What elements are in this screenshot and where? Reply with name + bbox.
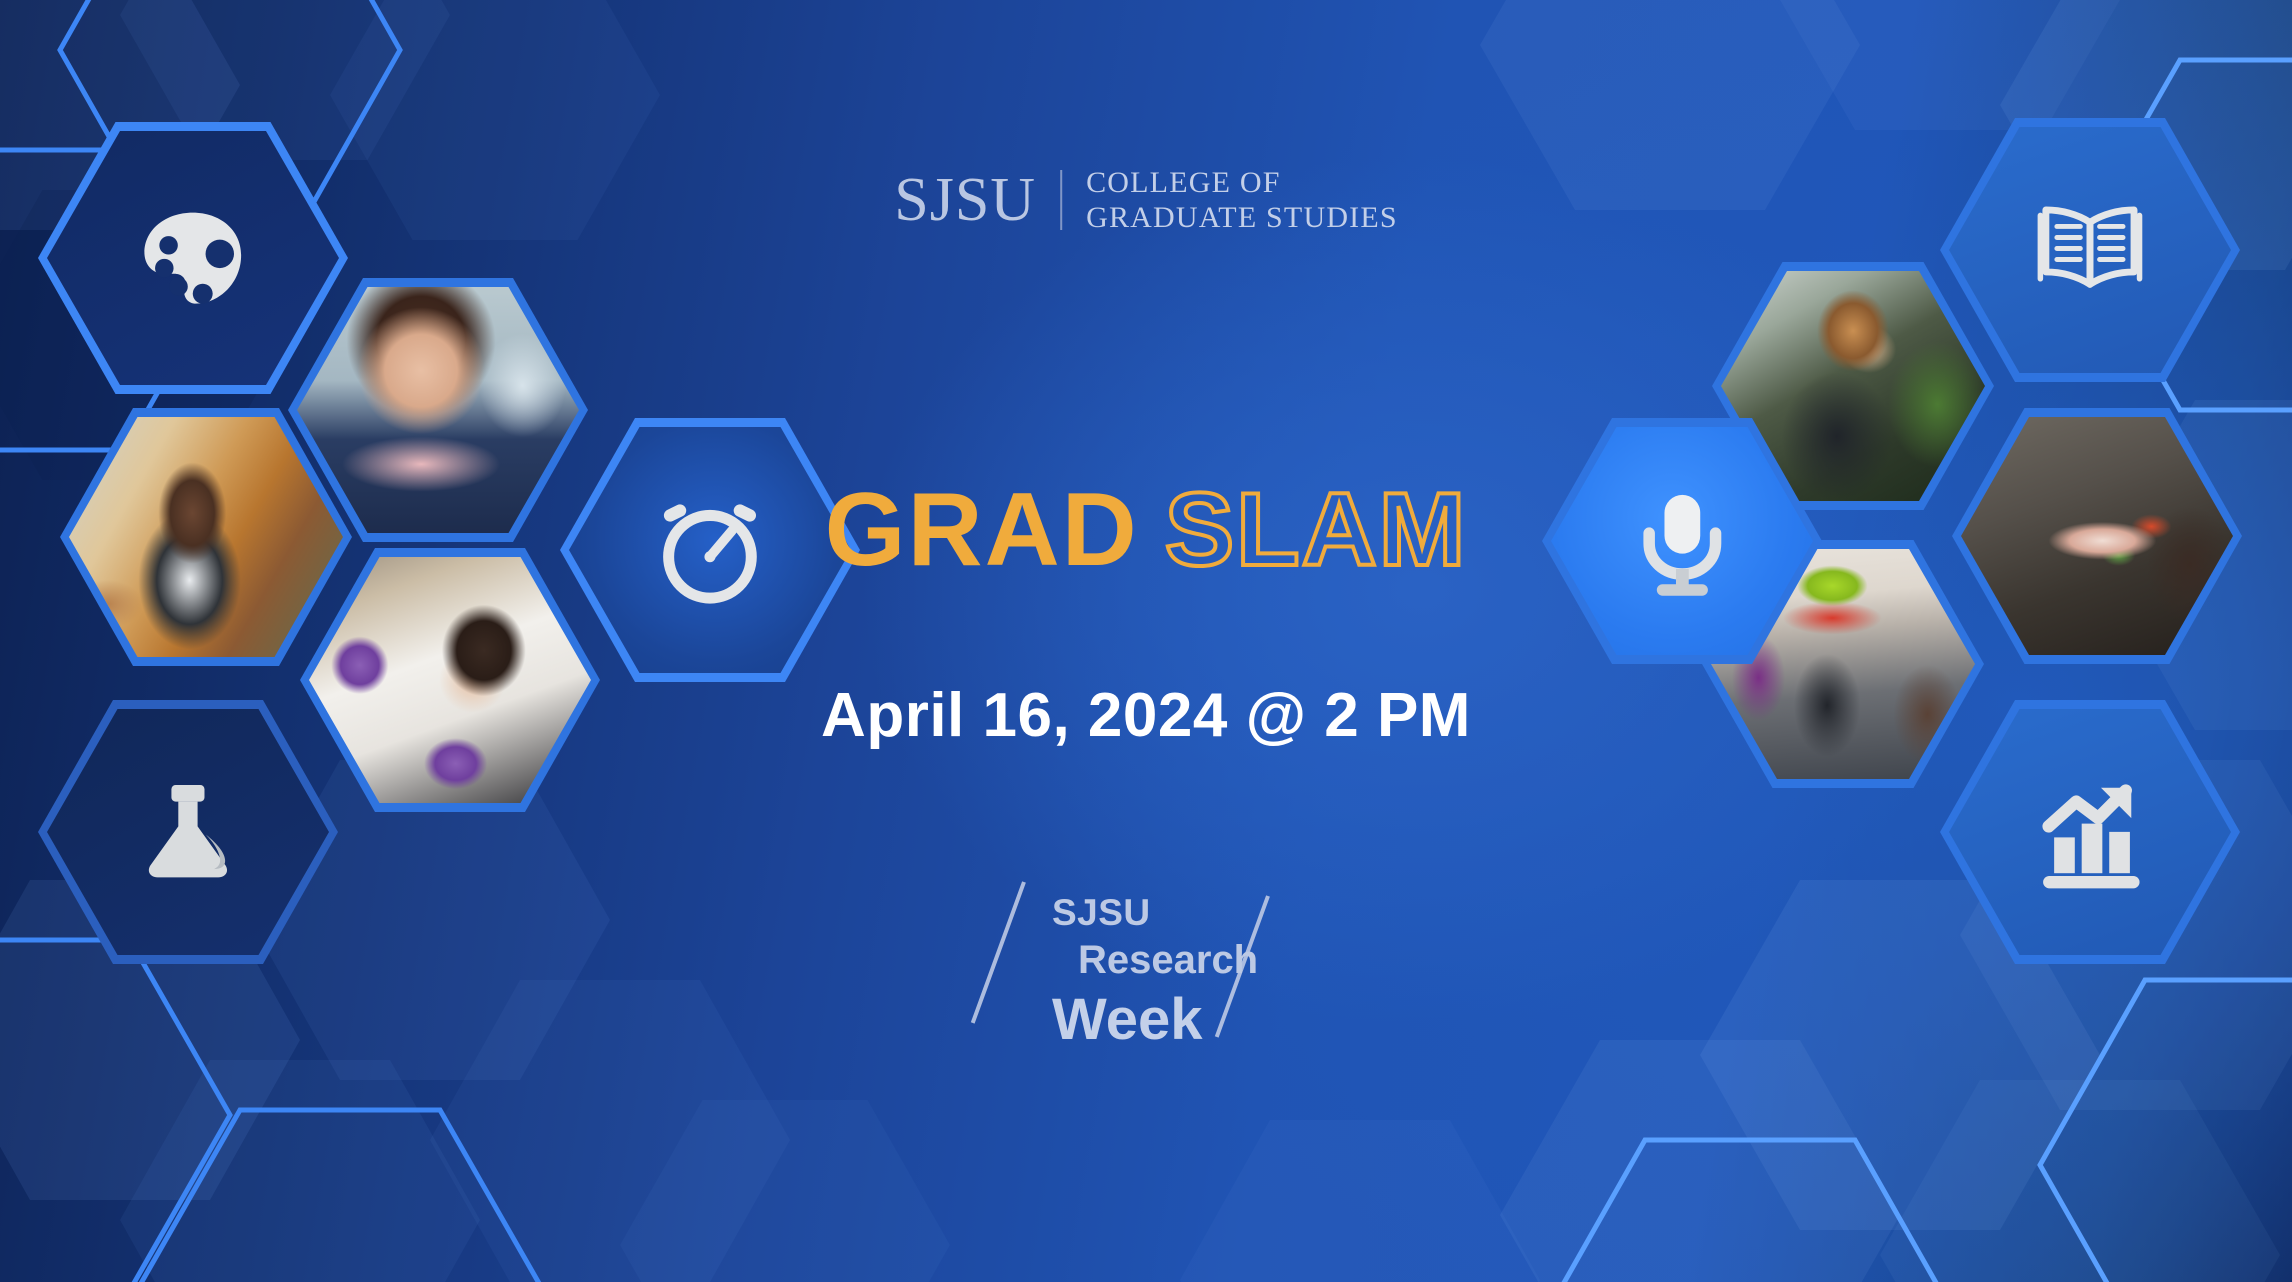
bg-hex-outline (2040, 980, 2292, 1282)
photo-artist (69, 417, 343, 657)
bg-hex-outline (140, 1110, 540, 1282)
photo-wind-tunnel (1961, 417, 2233, 655)
stopwatch-icon (631, 481, 789, 619)
grad-slam-poster: SJSU COLLEGE OF GRADUATE STUDIES GRADSLA… (0, 0, 2292, 1282)
photo-nurse (297, 287, 579, 533)
flask-icon (109, 763, 267, 901)
bg-hex-outline (1540, 1140, 1960, 1282)
bg-hex-fill (1180, 1120, 1540, 1282)
microphone-icon (1609, 477, 1756, 605)
bar-chart-growth-icon (2011, 763, 2169, 901)
photo-lab-researcher (309, 557, 591, 803)
open-book-icon (2011, 181, 2169, 319)
palette-icon (111, 187, 275, 329)
